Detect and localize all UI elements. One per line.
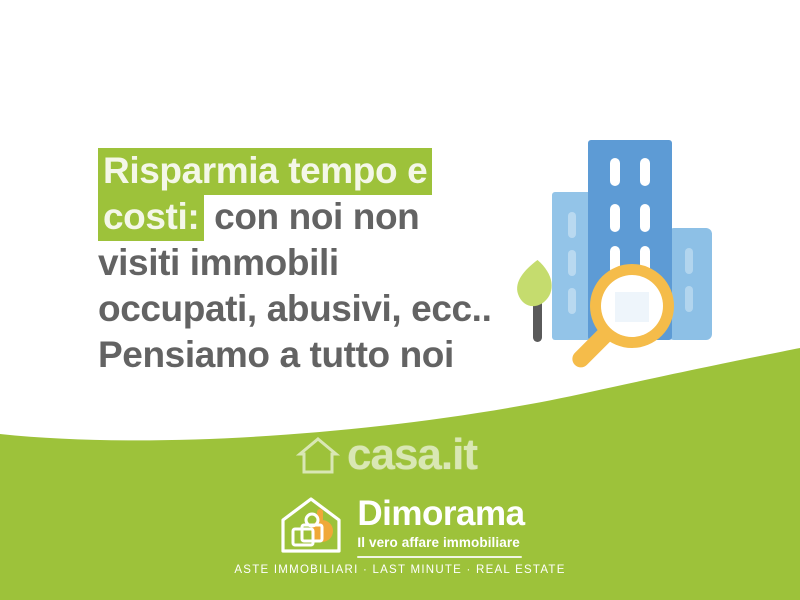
watermark-text: casa.it [347, 433, 477, 477]
brand-footer: Dimorama Il vero affare immobiliare ASTE… [0, 492, 800, 576]
left-building-icon [552, 192, 594, 340]
brand-underline [357, 556, 522, 558]
page-title: Risparmia tempo e costi: con noi non vis… [98, 148, 498, 378]
brand-words: Dimorama Il vero affare immobiliare [357, 492, 524, 558]
brand-subtitle: ASTE IMMOBILIARI · LAST MINUTE · REAL ES… [234, 564, 565, 576]
brand-name: Dimorama [357, 496, 524, 531]
tree-icon [517, 260, 552, 342]
buildings-magnifier-illustration [500, 120, 760, 385]
promo-banner: Risparmia tempo e costi: con noi non vis… [0, 0, 800, 600]
right-building-icon [668, 228, 712, 340]
house-icon [296, 433, 340, 477]
brand-tagline: Il vero affare immobiliare [357, 536, 519, 550]
casa-it-watermark: casa.it [296, 424, 536, 486]
house-documents-icon [275, 493, 347, 557]
brand-row: Dimorama Il vero affare immobiliare [275, 492, 524, 558]
